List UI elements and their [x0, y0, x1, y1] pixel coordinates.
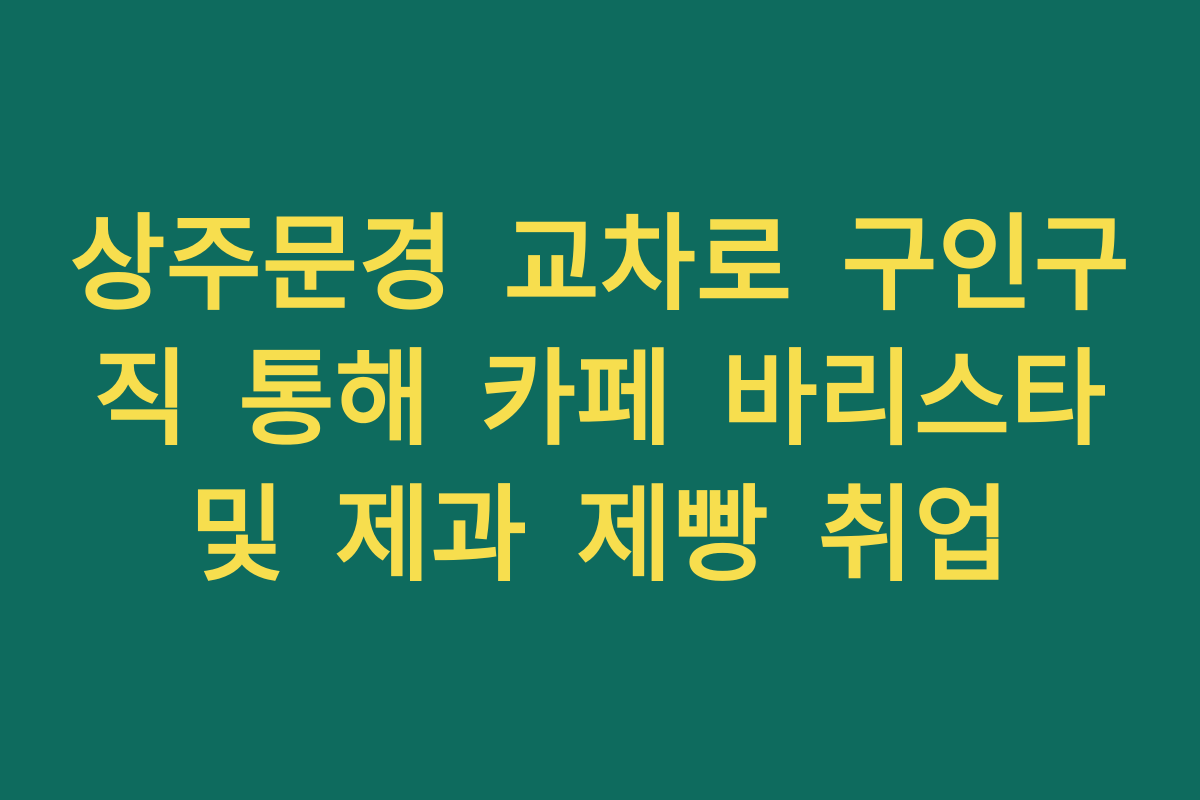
- headline-line-3: 및 제과 제빵 취업: [50, 468, 1150, 603]
- text-banner: 상주문경 교차로 구인구 직 통해 카페 바리스타 및 제과 제빵 취업: [0, 0, 1200, 800]
- headline: 상주문경 교차로 구인구 직 통해 카페 바리스타 및 제과 제빵 취업: [50, 197, 1150, 603]
- headline-line-2: 직 통해 카페 바리스타: [50, 332, 1150, 467]
- headline-line-1: 상주문경 교차로 구인구: [50, 197, 1150, 332]
